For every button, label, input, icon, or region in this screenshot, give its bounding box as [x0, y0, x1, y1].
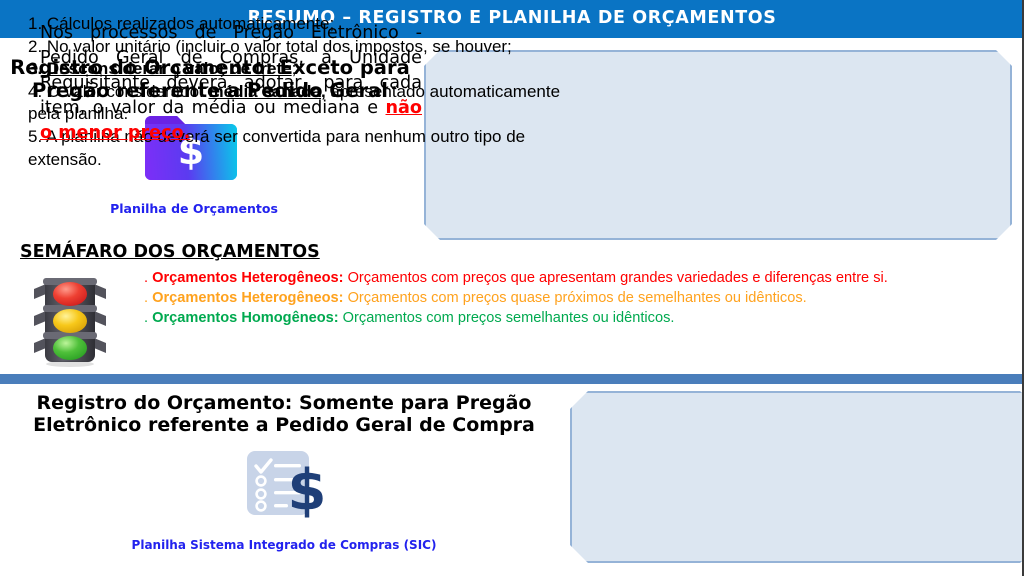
semaforo-legend: . Orçamentos Heterogêneos: Orçamentos co… [144, 269, 1010, 329]
checklist-dollar-icon: $ [243, 447, 337, 521]
semaforo-heading: SEMÁFARO DOS ORÇAMENTOS [20, 242, 320, 262]
planilha-orcamentos-caption: Planilha de Orçamentos [8, 201, 380, 216]
legend-row-heterogeneos-orange: . Orçamentos Heterogêneos: Orçamentos co… [144, 289, 1010, 308]
legend-0-label: Orçamentos Heterogêneos: [152, 270, 343, 286]
svg-text:$: $ [288, 458, 327, 521]
callout-box-bottom [570, 391, 1024, 563]
callout-bottom-body: Nos processos de Pregão Eletrônico - Ped… [40, 23, 422, 118]
slide-canvas: RESUMO – REGISTRO E PLANILHA DE ORÇAMENT… [0, 0, 1024, 576]
callout-bottom-paragraph: Nos processos de Pregão Eletrônico - Ped… [40, 21, 422, 146]
legend-row-heterogeneos-red: . Orçamentos Heterogêneos: Orçamentos co… [144, 269, 1010, 288]
legend-row-homogeneos-green: . Orçamentos Homogêneos: Orçamentos com … [144, 309, 1010, 328]
legend-2-description: Orçamentos com preços semelhantes ou idê… [339, 310, 675, 326]
traffic-light-icon [26, 272, 114, 368]
legend-1-label: Orçamentos Heterogêneos: [152, 290, 343, 306]
legend-2-bullet: . [144, 310, 152, 326]
legend-0-description: Orçamentos com preços que apresentam gra… [344, 270, 888, 286]
legend-0-bullet: . [144, 270, 152, 286]
section-bottom-heading: Registro do Orçamento: Somente para Preg… [10, 392, 558, 437]
planilha-sic-caption: Planilha Sistema Integrado de Compras (S… [8, 538, 560, 552]
legend-1-bullet: . [144, 290, 152, 306]
legend-2-label: Orçamentos Homogêneos: [152, 310, 339, 326]
callout-bottom-content: Nos processos de Pregão Eletrônico - Ped… [40, 21, 422, 146]
section-divider [0, 374, 1024, 384]
legend-1-description: Orçamentos com preços quase próximos de … [344, 290, 807, 306]
